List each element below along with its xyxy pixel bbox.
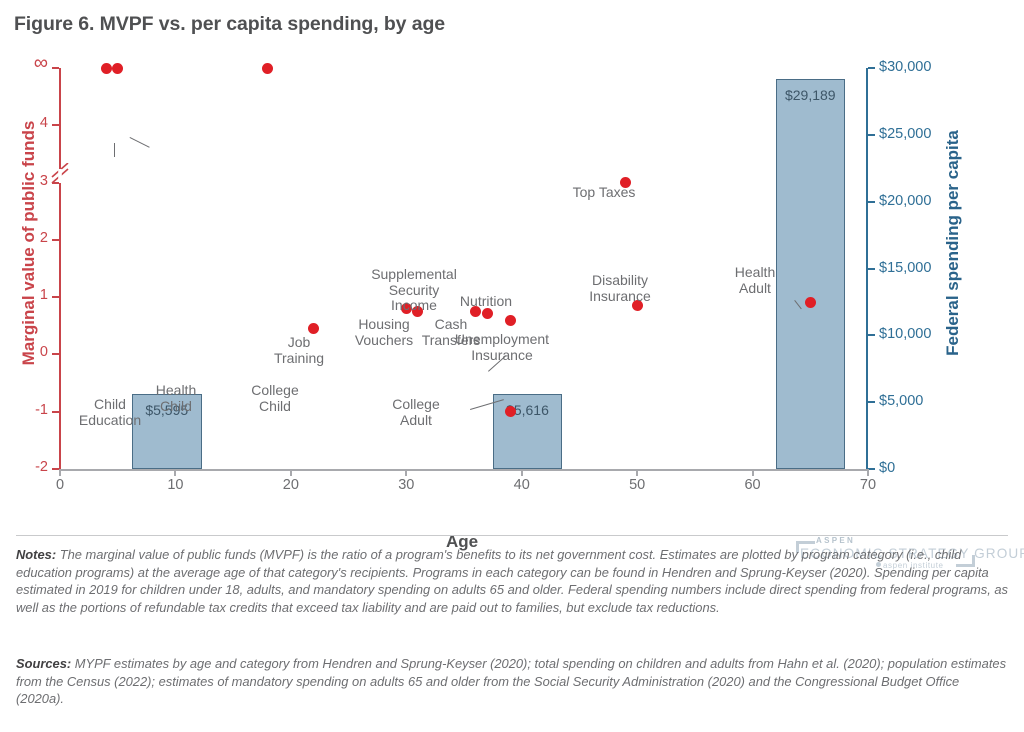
right-axis-tick-label: $10,000	[879, 327, 931, 341]
x-axis-tick	[174, 469, 176, 476]
right-axis-tick-label: $25,000	[879, 127, 931, 141]
label-leader-line	[114, 143, 115, 157]
right-axis-tick-label: $5,000	[879, 394, 923, 408]
x-axis-tick-label: 30	[389, 477, 423, 493]
right-axis-title: Federal spending per capita	[943, 48, 963, 438]
figure-page: Figure 6. MVPF vs. per capita spending, …	[0, 0, 1024, 732]
left-axis-tick	[52, 67, 59, 69]
left-axis-tick	[52, 182, 59, 184]
point-label: Nutrition	[436, 294, 536, 310]
right-axis-tick	[868, 67, 875, 69]
x-axis-tick-label: 20	[274, 477, 308, 493]
left-axis-tick	[52, 239, 59, 241]
left-axis-title: Marginal value of public funds	[19, 48, 39, 438]
data-point[interactable]	[101, 63, 112, 74]
right-axis-tick-label: $15,000	[879, 261, 931, 275]
right-axis-tick	[868, 401, 875, 403]
x-axis-tick	[290, 469, 292, 476]
point-label: Health Adult	[710, 265, 800, 296]
right-axis-tick	[868, 134, 875, 136]
chart-area: ∞43210-1-2$30,000$25,000$20,000$15,000$1…	[0, 55, 1024, 510]
left-axis-line	[59, 68, 61, 469]
right-axis-tick	[868, 468, 875, 470]
logo-aspen-text: ASPEN	[816, 536, 855, 545]
right-axis-tick	[868, 268, 875, 270]
point-label: Top Taxes	[549, 185, 659, 201]
left-axis-tick	[52, 411, 59, 413]
x-axis-tick	[521, 469, 523, 476]
left-axis-tick	[52, 468, 59, 470]
bar-value-label: $29,189	[776, 87, 845, 103]
left-axis-tick	[52, 353, 59, 355]
x-axis-tick	[752, 469, 754, 476]
x-axis-tick-label: 10	[158, 477, 192, 493]
left-axis-tick	[52, 296, 59, 298]
data-point[interactable]	[112, 63, 123, 74]
page-title: Figure 6. MVPF vs. per capita spending, …	[14, 13, 445, 36]
point-label: Job Training	[254, 335, 344, 366]
footnote-divider	[16, 535, 1008, 536]
sources-paragraph: Sources: MYPF estimates by age and categ…	[16, 655, 1008, 708]
data-point[interactable]	[505, 315, 516, 326]
right-axis-tick-label: $20,000	[879, 194, 931, 208]
x-axis-tick-label: 70	[851, 477, 885, 493]
sources-label: Sources:	[16, 656, 71, 671]
data-point[interactable]	[505, 406, 516, 417]
notes-paragraph: Notes: The marginal value of public fund…	[16, 546, 1008, 616]
x-axis-line	[60, 469, 868, 471]
point-label: Health Child	[136, 383, 216, 414]
notes-label: Notes:	[16, 547, 56, 562]
left-axis-tick	[52, 124, 59, 126]
data-point[interactable]	[262, 63, 273, 74]
right-axis-tick-label: $30,000	[879, 60, 931, 74]
x-axis-tick	[867, 469, 869, 476]
right-axis-tick	[868, 334, 875, 336]
notes-text: The marginal value of public funds (MVPF…	[16, 547, 1008, 615]
x-axis-tick	[59, 469, 61, 476]
point-label: Unemployment Insurance	[422, 332, 582, 363]
x-axis-tick-label: 50	[620, 477, 654, 493]
left-axis-tick-label: -2	[8, 460, 48, 474]
x-axis-tick	[405, 469, 407, 476]
right-axis-tick-label: $0	[879, 461, 895, 475]
point-label: Disability Insurance	[562, 273, 678, 304]
point-label: College Child	[234, 383, 316, 414]
data-point[interactable]	[308, 323, 319, 334]
bar-value-label: $5,616	[493, 402, 562, 418]
right-axis-tick	[868, 201, 875, 203]
x-axis-tick-label: 60	[736, 477, 770, 493]
point-label: College Adult	[370, 397, 462, 428]
x-axis-tick-label: 40	[505, 477, 539, 493]
label-leader-line	[130, 137, 150, 148]
axis-break-icon	[50, 163, 70, 189]
sources-text: MYPF estimates by age and category from …	[16, 656, 1006, 706]
x-axis-tick-label: 0	[43, 477, 77, 493]
x-axis-tick	[636, 469, 638, 476]
